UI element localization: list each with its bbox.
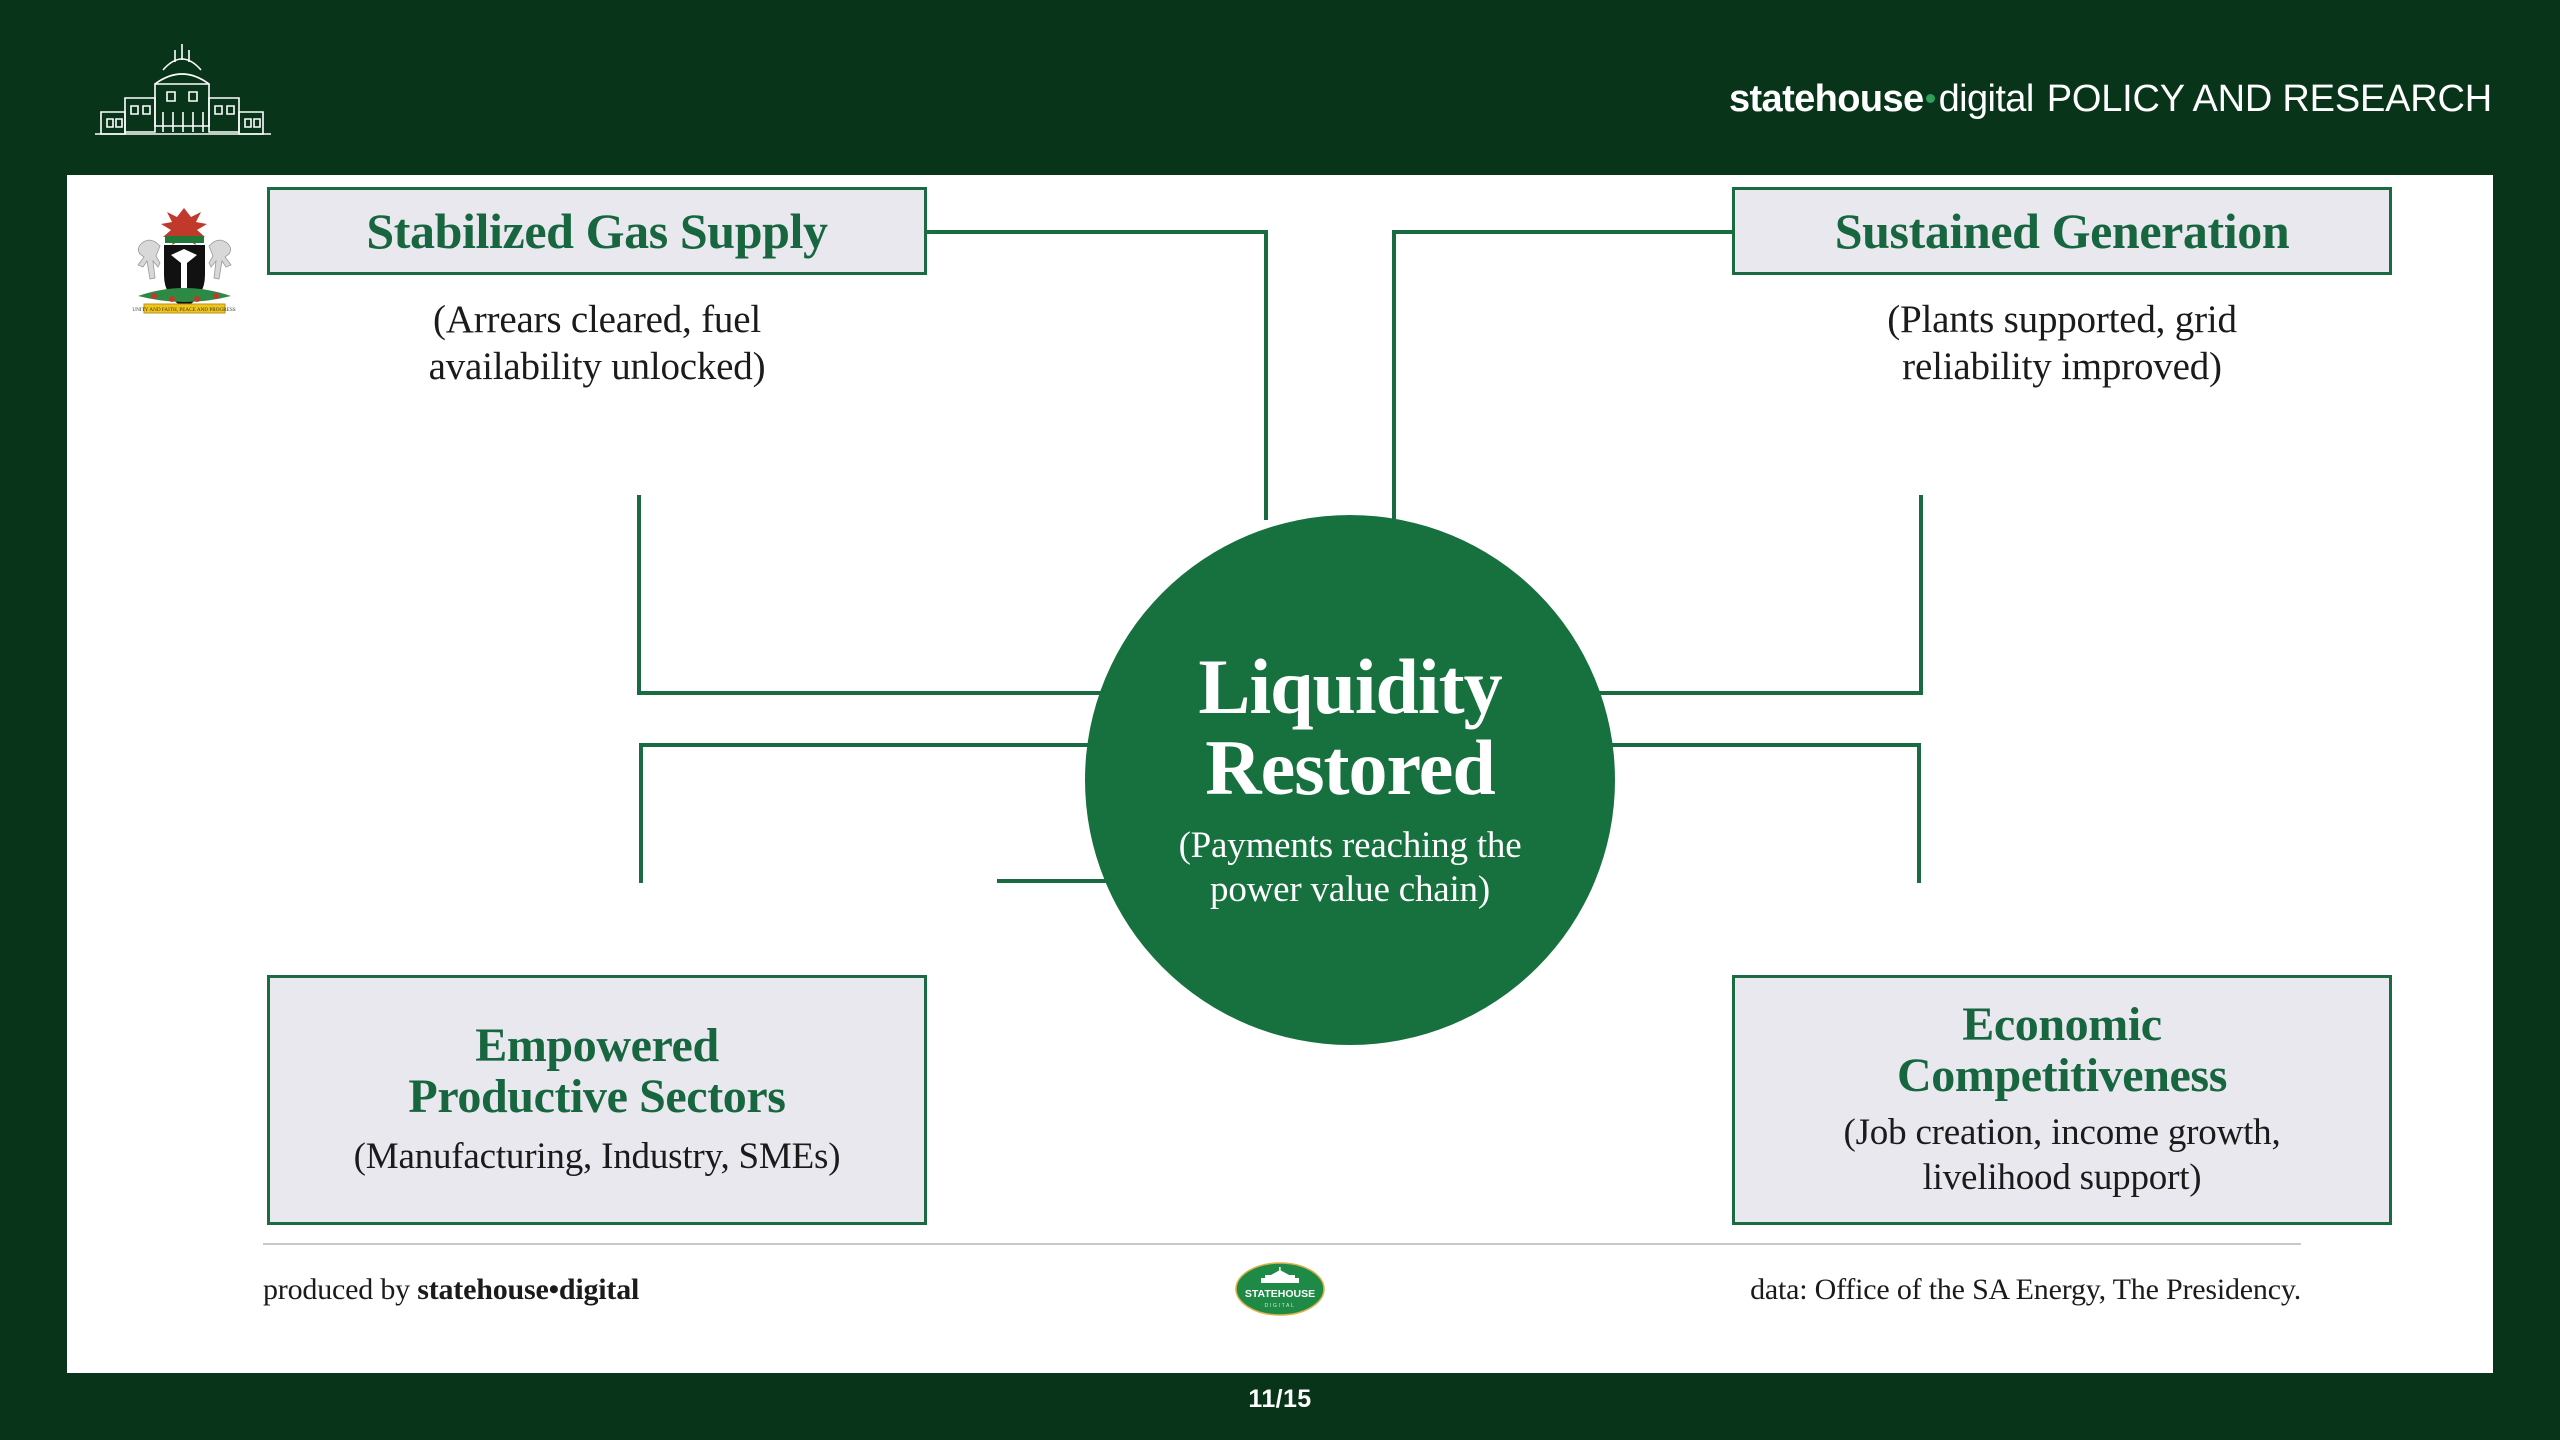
produced-brand: statehouse•digital — [417, 1273, 639, 1306]
slide-stage: statehouse digital POLICY AND RESEARCH — [0, 0, 2560, 1440]
connector-topleft-vertical — [1264, 230, 1268, 520]
node-title-line-1: Economic — [1962, 1000, 2161, 1051]
footer-produced-by: produced by statehouse•digital — [263, 1273, 639, 1307]
brand-tagline: POLICY AND RESEARCH — [2047, 78, 2492, 121]
node-stabilized-gas-supply[interactable]: Stabilized Gas Supply — [267, 187, 927, 275]
brand-lockup: statehouse digital POLICY AND RESEARCH — [1729, 78, 2492, 121]
footer-data-source: data: Office of the SA Energy, The Presi… — [1750, 1273, 2301, 1307]
node-subtitle-line-1: (Manufacturing, Industry, SMEs) — [354, 1135, 841, 1179]
hub-title-line-1: Liquidity — [1198, 647, 1501, 727]
node-stabilized-gas-supply-subtitle: (Arrears cleared, fuel availability unlo… — [267, 297, 927, 391]
subtitle-line-2: availability unlocked) — [267, 344, 927, 391]
page-indicator: 11/15 — [0, 1385, 2560, 1414]
hub-subtitle-line-1: (Payments reaching the — [1179, 824, 1522, 868]
footer-divider — [263, 1243, 2301, 1245]
node-sustained-generation[interactable]: Sustained Generation — [1732, 187, 2392, 275]
statehouse-digital-oval-badge-icon: STATEHOUSE DIGITAL — [1235, 1261, 1325, 1317]
produced-prefix: produced by — [263, 1273, 417, 1306]
node-title-line-2: Competitiveness — [1897, 1051, 2227, 1102]
node-title: Sustained Generation — [1835, 205, 2290, 258]
svg-text:DIGITAL: DIGITAL — [1265, 1303, 1296, 1309]
hub-subtitle-line-2: power value chain) — [1210, 868, 1490, 912]
connector-topleft-horizontal — [927, 230, 1268, 234]
node-subtitle-line-1: (Job creation, income growth, — [1843, 1111, 2280, 1155]
slide-card: UNITY AND FAITH, PEACE AND PROGRESS — [67, 175, 2493, 1373]
connector-topright-vertical — [1392, 230, 1396, 520]
subtitle-line-2: reliability improved) — [1732, 344, 2392, 391]
connector-bottomright-vertical — [1917, 743, 1921, 883]
subtitle-line-1: (Plants supported, grid — [1732, 297, 2392, 344]
node-economic-competitiveness[interactable]: Economic Competitiveness (Job creation, … — [1732, 975, 2392, 1225]
connector-right-vertical — [1919, 495, 1923, 695]
node-title: Stabilized Gas Supply — [366, 205, 827, 258]
connector-topright-horizontal — [1392, 230, 1732, 234]
statehouse-building-outline-icon — [85, 40, 280, 140]
connector-bottomleft-vertical — [639, 743, 643, 883]
brand-dot-icon — [1926, 94, 1935, 103]
subtitle-line-1: (Arrears cleared, fuel — [267, 297, 927, 344]
page-header: statehouse digital POLICY AND RESEARCH — [0, 0, 2560, 175]
node-title-line-2: Productive Sectors — [408, 1072, 785, 1123]
node-empowered-productive-sectors[interactable]: Empowered Productive Sectors (Manufactur… — [267, 975, 927, 1225]
svg-text:STATEHOUSE: STATEHOUSE — [1245, 1288, 1315, 1300]
hub-title-line-2: Restored — [1205, 728, 1495, 808]
node-sustained-generation-subtitle: (Plants supported, grid reliability impr… — [1732, 297, 2392, 391]
brand-name-bold: statehouse — [1729, 78, 1924, 121]
node-subtitle-line-2: livelihood support) — [1923, 1156, 2202, 1200]
liquidity-flow-diagram: Stabilized Gas Supply (Arrears cleared, … — [67, 175, 2493, 1285]
hub-liquidity-restored[interactable]: Liquidity Restored (Payments reaching th… — [1085, 515, 1615, 1045]
connector-left-vertical — [637, 495, 641, 695]
node-title-line-1: Empowered — [475, 1021, 719, 1072]
brand-name-thin: digital — [1939, 78, 2034, 121]
